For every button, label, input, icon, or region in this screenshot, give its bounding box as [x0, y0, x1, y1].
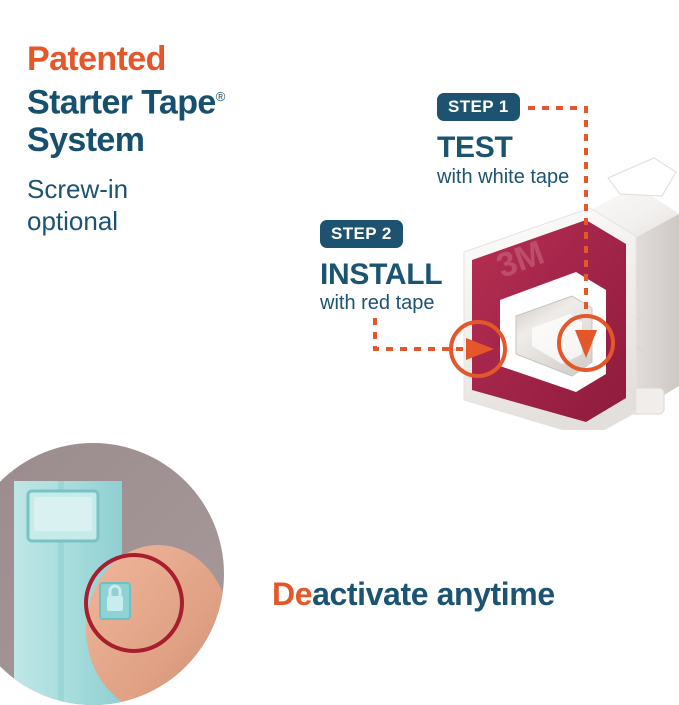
headline-starter-tape-text: Starter Tape — [27, 83, 216, 121]
jack-latch-tab — [608, 158, 676, 196]
keystone-jack-illustration: 3M — [440, 150, 679, 430]
lock-icon-body — [107, 596, 123, 611]
step-2-subtitle: with red tape — [320, 293, 435, 313]
product-image: 3M — [440, 150, 679, 430]
device-top-pad-inner — [34, 497, 92, 531]
tagline-rest: activate anytime — [312, 576, 555, 612]
headline-subline: Screw-in optional — [27, 173, 327, 237]
subline-optional: optional — [27, 205, 327, 237]
tagline-prefix: De — [272, 576, 312, 612]
step-1-subtitle: with white tape — [437, 167, 569, 187]
headline-block: Patented Starter Tape® System Screw-in o… — [27, 40, 327, 237]
registered-trademark-icon: ® — [216, 89, 226, 104]
promo-graphic: Patented Starter Tape® System Screw-in o… — [0, 0, 679, 666]
tagline: Deactivate anytime — [272, 578, 555, 610]
headline-line-patented: Patented — [27, 40, 327, 78]
headline-line-system: System — [27, 121, 327, 159]
step-2-badge: STEP 2 — [320, 220, 403, 248]
subline-screw-in: Screw-in — [27, 173, 327, 205]
headline-line-starter-tape: Starter Tape® — [27, 78, 327, 121]
step-2-title: INSTALL — [320, 260, 442, 290]
step-1-title: TEST — [437, 133, 512, 163]
step-1-badge: STEP 1 — [437, 93, 520, 121]
